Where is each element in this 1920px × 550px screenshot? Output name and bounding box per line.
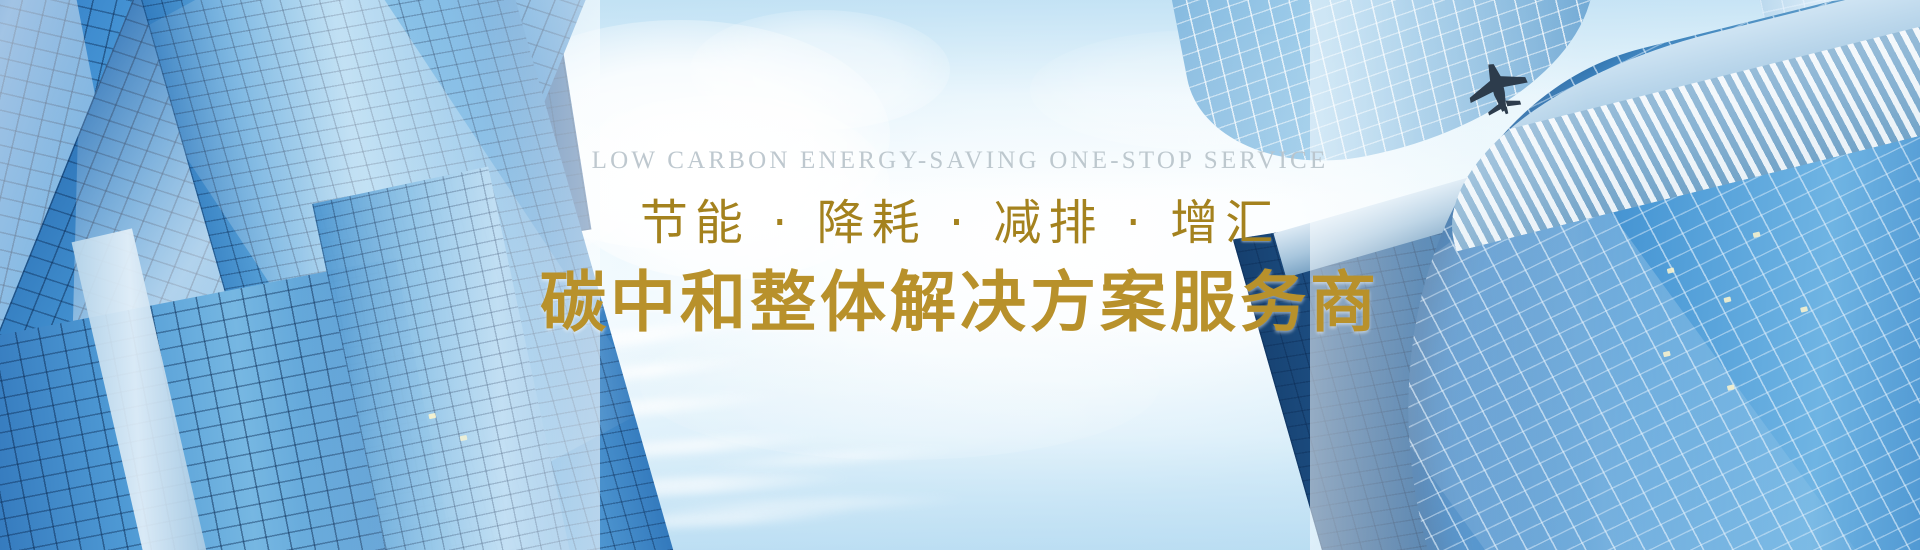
banner-text-block: LOW CARBON ENERGY-SAVING ONE-STOP SERVIC… [0, 148, 1920, 339]
banner-subtitle-text: 节能 · 降耗 · 减排 · 增汇 [0, 197, 1920, 251]
hero-banner: LOW CARBON ENERGY-SAVING ONE-STOP SERVIC… [0, 0, 1920, 550]
banner-headline-text: 碳中和整体解决方案服务商 [0, 267, 1920, 340]
banner-eyebrow-text: LOW CARBON ENERGY-SAVING ONE-STOP SERVIC… [0, 148, 1920, 173]
